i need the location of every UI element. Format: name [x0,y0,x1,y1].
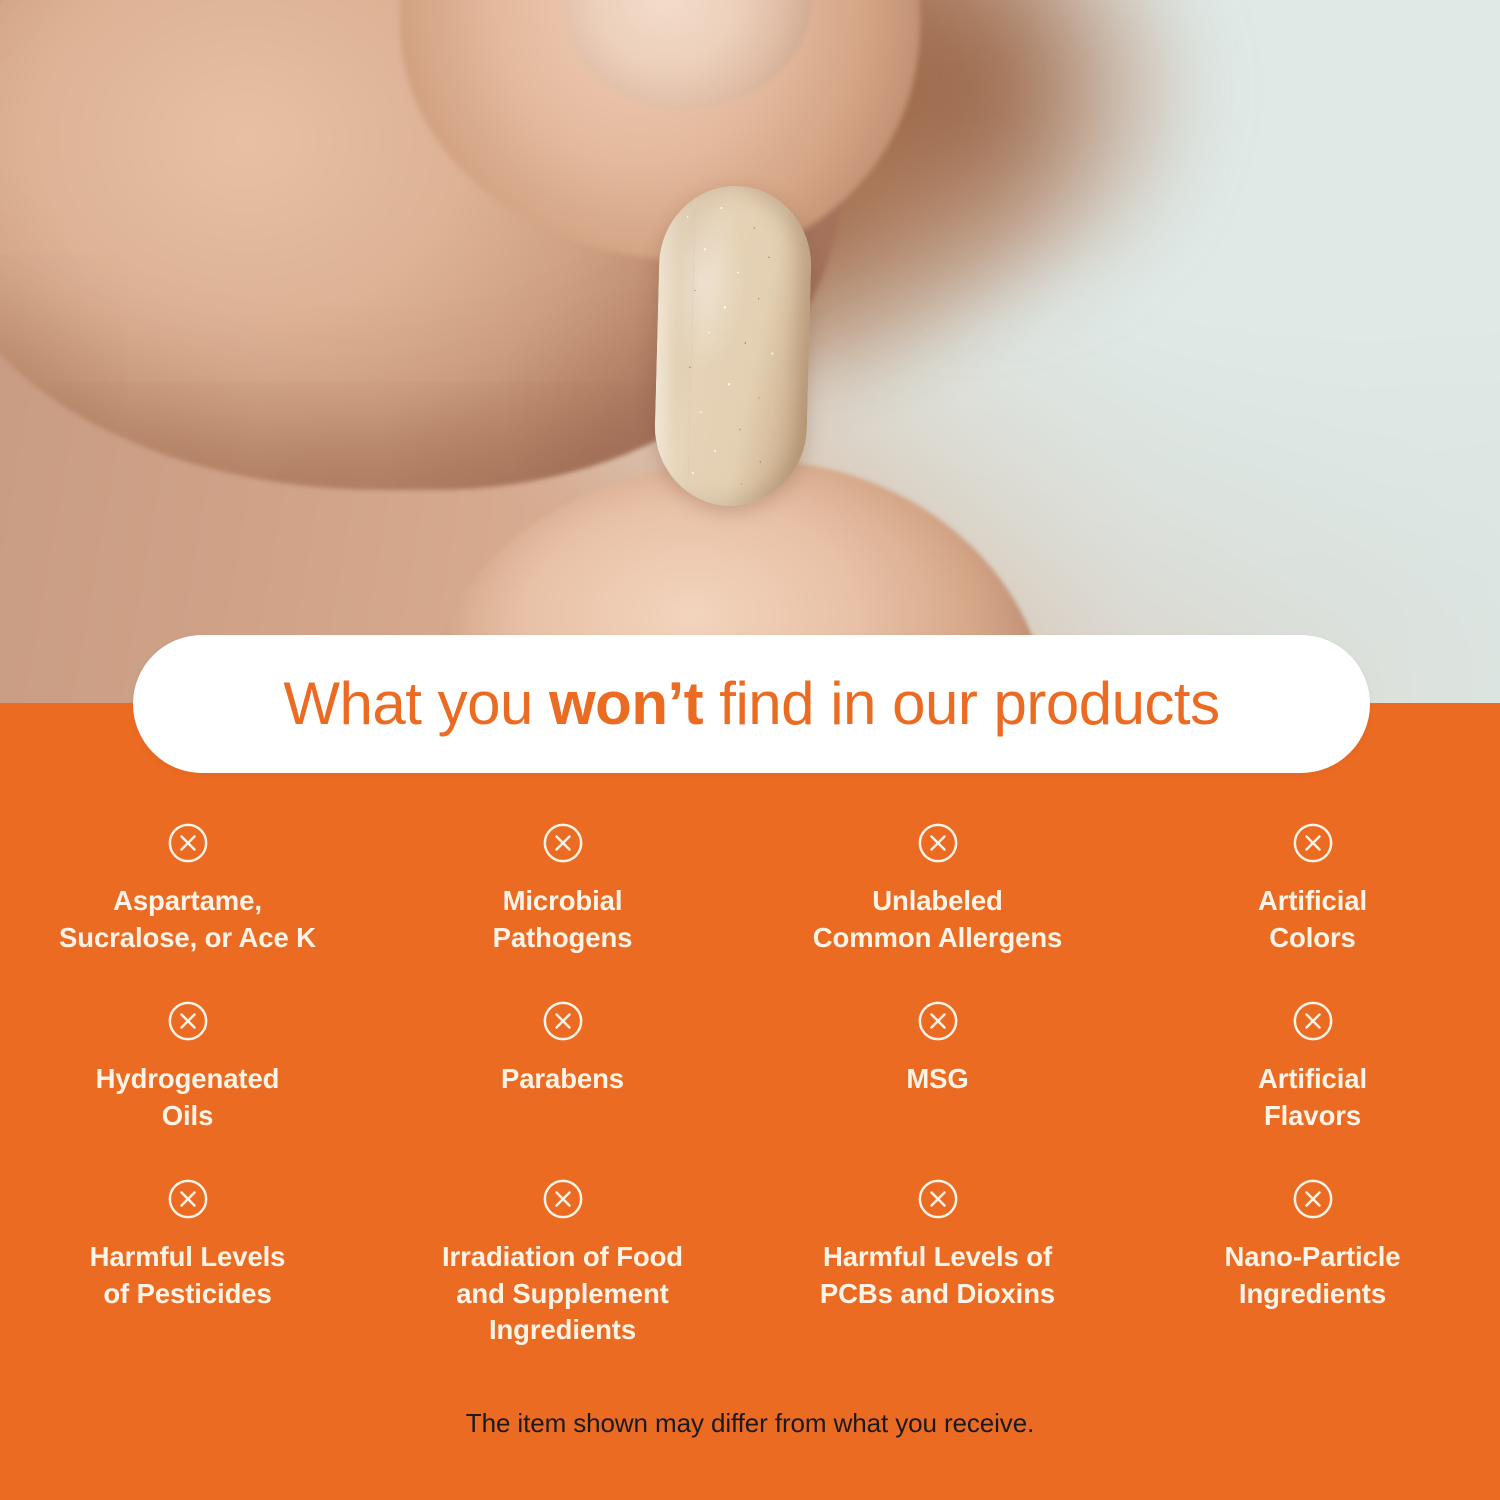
circle-x-icon [1292,1178,1334,1220]
circle-x-icon [917,1178,959,1220]
circle-x-icon [917,1000,959,1042]
title-pill: What you won’t find in our products [133,635,1370,773]
circle-x-icon [167,1178,209,1220]
disclaimer-text: The item shown may differ from what you … [466,1408,1034,1439]
circle-x-icon [167,1000,209,1042]
excluded-item-label: Nano-Particle Ingredients [1225,1239,1401,1312]
circle-x-icon [542,1000,584,1042]
excluded-item: Harmful Levels of PCBs and Dioxins [750,1168,1125,1358]
excluded-item-label: Artificial Colors [1258,883,1367,956]
excluded-item: Aspartame, Sucralose, or Ace K [0,812,375,990]
circle-x-icon [1292,822,1334,864]
excluded-item: Artificial Colors [1125,812,1500,990]
excluded-item: Harmful Levels of Pesticides [0,1168,375,1358]
excluded-item-label: Microbial Pathogens [493,883,633,956]
footer: The item shown may differ from what you … [0,1408,1500,1439]
page-title-suffix: find in our products [703,670,1219,737]
page-title: What you won’t find in our products [283,674,1219,734]
excluded-item-label: Irradiation of Food and Supplement Ingre… [442,1239,683,1349]
excluded-item-label: Harmful Levels of Pesticides [90,1239,286,1312]
excluded-item-label: Unlabeled Common Allergens [813,883,1063,956]
excluded-item: Microbial Pathogens [375,812,750,990]
hero-photo [0,0,1500,705]
supplement-tablet [653,184,813,508]
excluded-item: Parabens [375,990,750,1168]
excluded-item: Artificial Flavors [1125,990,1500,1168]
excluded-item-label: Artificial Flavors [1258,1061,1367,1134]
page-title-emphasis: won’t [549,670,703,737]
page-title-prefix: What you [283,670,549,737]
excluded-item-label: Aspartame, Sucralose, or Ace K [59,883,316,956]
circle-x-icon [1292,1000,1334,1042]
excluded-item-label: Parabens [501,1061,624,1098]
excluded-item: Unlabeled Common Allergens [750,812,1125,990]
excluded-item-label: MSG [906,1061,968,1098]
excluded-ingredients-grid: Aspartame, Sucralose, or Ace K Microbial… [0,812,1500,1358]
circle-x-icon [542,822,584,864]
circle-x-icon [167,822,209,864]
excluded-item: Nano-Particle Ingredients [1125,1168,1500,1358]
excluded-item-label: Hydrogenated Oils [96,1061,280,1134]
excluded-item-label: Harmful Levels of PCBs and Dioxins [820,1239,1055,1312]
product-claims-infographic: What you won’t find in our products Aspa… [0,0,1500,1500]
excluded-item: Hydrogenated Oils [0,990,375,1168]
circle-x-icon [917,822,959,864]
excluded-item: MSG [750,990,1125,1168]
excluded-item: Irradiation of Food and Supplement Ingre… [375,1168,750,1358]
circle-x-icon [542,1178,584,1220]
